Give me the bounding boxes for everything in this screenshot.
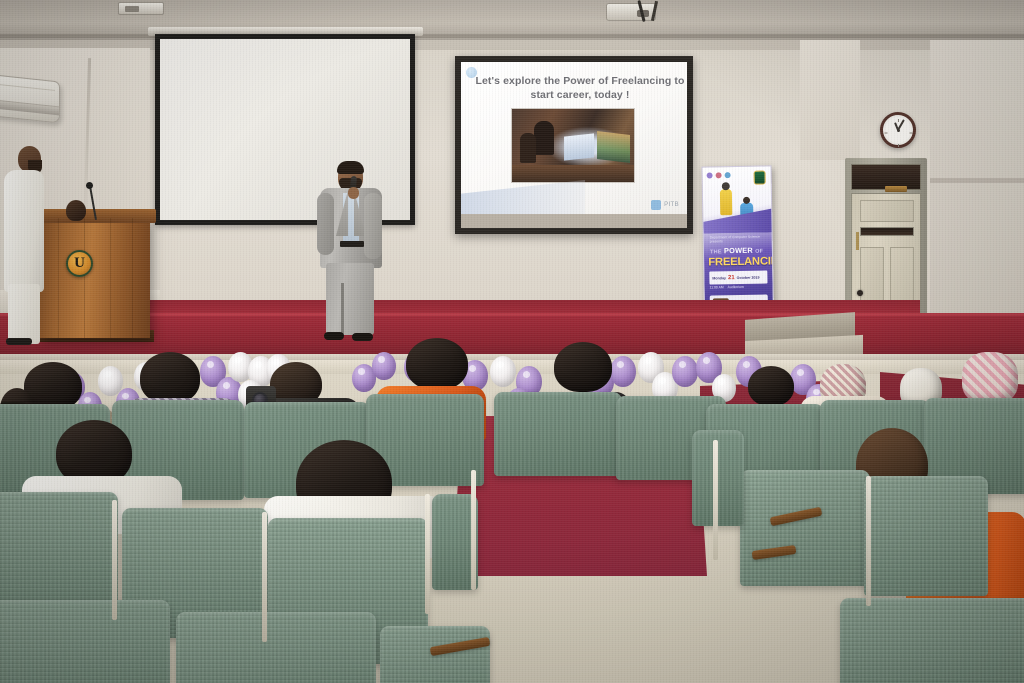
presenter-arm — [317, 193, 334, 255]
ac-seam — [0, 84, 55, 91]
partner-logo-icon — [725, 172, 731, 178]
seat-divider — [866, 476, 871, 606]
banner-time: 11:00 AM — [710, 285, 724, 289]
podium-grain — [84, 218, 85, 338]
slide: Let's explore the Power of Freelancing t… — [461, 62, 687, 228]
seat-divider — [471, 470, 476, 590]
auditorium-seat[interactable] — [494, 392, 622, 476]
auditorium-seat[interactable] — [840, 598, 1024, 683]
slide-title: Let's explore the Power of Freelancing t… — [469, 74, 687, 102]
slide-photo-person — [520, 133, 536, 163]
audience-head-scarf — [962, 352, 1018, 404]
clock-face — [885, 117, 911, 143]
slide-photo-person — [534, 121, 554, 155]
emblem-letter: U — [74, 256, 85, 271]
banner-date-month: October 2019 — [737, 275, 760, 279]
ceiling-projector-icon — [606, 3, 656, 21]
audience-head — [140, 352, 200, 404]
presenter-shoe — [352, 333, 373, 341]
slide-photo — [511, 108, 635, 183]
banner-date-number: 21 — [728, 275, 735, 281]
slide-bottom-band — [461, 214, 687, 228]
auditorium-seat[interactable] — [740, 470, 870, 586]
door-closer-icon — [885, 186, 907, 192]
banner-partner-logos — [707, 171, 747, 180]
person-torso — [4, 170, 44, 292]
university-emblem-icon: U — [66, 250, 93, 277]
door-louvre-vent — [860, 227, 914, 236]
banner-of: OF — [755, 249, 763, 255]
wall-top-beam — [0, 40, 1024, 50]
slide-photo-desk — [512, 165, 635, 183]
air-conditioner-icon — [0, 75, 60, 124]
podium-microphone-icon — [86, 182, 93, 189]
banner-power: POWER — [724, 246, 753, 256]
partner-logo-icon — [716, 172, 722, 178]
auditorium-seat[interactable] — [0, 492, 118, 612]
banner-venue: Auditorium — [728, 285, 744, 289]
auditorium-photo: Let's explore the Power of Freelancing t… — [0, 0, 1024, 683]
slide-photo-monitor — [564, 133, 594, 160]
podium-grain — [132, 218, 133, 338]
auditorium-seat[interactable] — [176, 612, 376, 683]
balloon-purple — [372, 352, 396, 380]
audience-head — [554, 342, 612, 392]
banner-date-bar: Monday 21 October 2019 — [709, 270, 767, 284]
presenter-shoe — [324, 332, 344, 340]
clock-tick — [898, 119, 899, 122]
slide-photo-monitor — [597, 131, 630, 163]
projection-screen-active: Let's explore the Power of Freelancing t… — [455, 56, 693, 234]
presenter-belt — [340, 241, 364, 247]
ceiling-light-icon — [118, 2, 164, 15]
wall-seam — [930, 178, 1024, 183]
audience-head — [748, 366, 794, 406]
door-handle-icon[interactable] — [857, 290, 863, 296]
seated-person-near-podium — [62, 200, 92, 226]
seat-divider — [112, 500, 117, 620]
presenter-trouser-seam — [341, 283, 344, 335]
person-head — [66, 200, 86, 221]
door-panel — [860, 200, 914, 222]
clock-center-pin — [897, 129, 900, 132]
ac-vent — [0, 100, 59, 116]
wall-clock-icon — [880, 112, 916, 148]
slide-brand-text: PITB — [664, 202, 679, 208]
presenter-arm — [364, 193, 382, 259]
banner-eyebrow: Department of Computer Science presents — [710, 234, 768, 243]
slide-brand-icon — [651, 200, 661, 210]
partner-logo-icon — [707, 172, 713, 178]
seat-divider — [713, 440, 718, 560]
presenter-hand — [348, 187, 359, 199]
clock-tick — [909, 133, 912, 134]
man-in-white-kameez — [2, 146, 46, 342]
seat-divider — [262, 512, 267, 642]
seat-divider — [425, 494, 430, 614]
speaker-podium: U — [40, 218, 150, 338]
balloon-purple — [672, 356, 698, 387]
banner-time-row: 11:00 AM Auditorium — [710, 284, 768, 289]
presenter-with-microphone — [318, 163, 384, 341]
person-legs — [8, 284, 40, 344]
podium-grain — [58, 218, 59, 338]
banner-freelancing-title: FREELANCING — [708, 256, 774, 268]
auditorium-seat[interactable] — [864, 476, 988, 596]
clock-tick — [884, 133, 887, 134]
auditorium-seat[interactable] — [692, 430, 744, 526]
balloon-purple — [610, 356, 636, 387]
banner-date-label: Monday — [712, 276, 726, 280]
slide-brand: PITB — [651, 200, 679, 210]
clock-tick — [898, 144, 899, 147]
banner-the: THE — [710, 249, 722, 255]
door-hinge — [856, 232, 859, 250]
presenter-hair — [337, 161, 364, 174]
balloon-white — [490, 356, 516, 387]
podium-grain — [110, 218, 111, 338]
slide-decoration — [461, 180, 585, 214]
wall-right-upper — [800, 40, 860, 160]
person-shoes — [6, 338, 32, 345]
audience-head — [406, 338, 468, 390]
auditorium-seat[interactable] — [0, 600, 170, 683]
banner-illustration-person — [720, 189, 732, 215]
presenter-trousers — [326, 263, 374, 335]
